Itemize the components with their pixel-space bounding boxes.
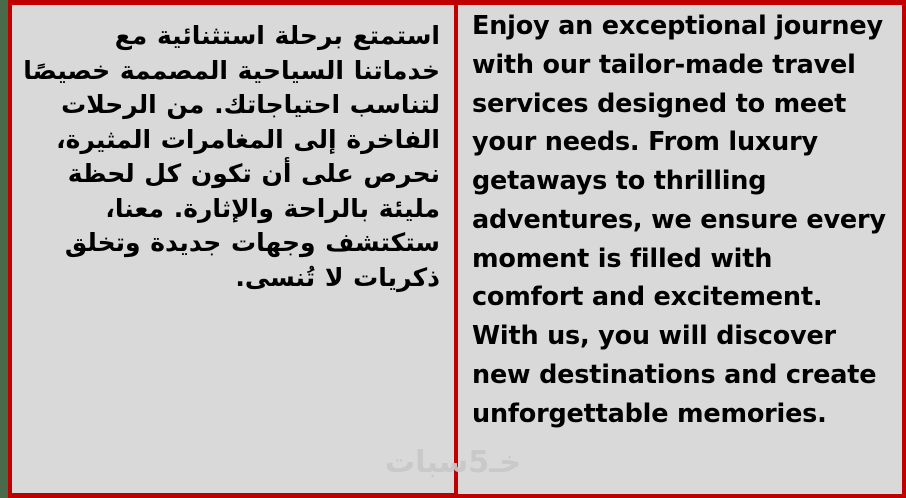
table-cell-english[interactable]: Enjoy an exceptional journey with our ta… bbox=[458, 0, 906, 498]
table-row: استمتع برحلة استثنائية مع خدماتنا السياح… bbox=[8, 0, 906, 498]
bilingual-text-table: استمتع برحلة استثنائية مع خدماتنا السياح… bbox=[8, 0, 906, 498]
page-edge-strip bbox=[0, 0, 8, 498]
page-root: استمتع برحلة استثنائية مع خدماتنا السياح… bbox=[0, 0, 906, 498]
english-paragraph: Enjoy an exceptional journey with our ta… bbox=[472, 7, 888, 433]
arabic-paragraph: استمتع برحلة استثنائية مع خدماتنا السياح… bbox=[22, 19, 440, 295]
table-cell-arabic[interactable]: استمتع برحلة استثنائية مع خدماتنا السياح… bbox=[8, 0, 458, 498]
